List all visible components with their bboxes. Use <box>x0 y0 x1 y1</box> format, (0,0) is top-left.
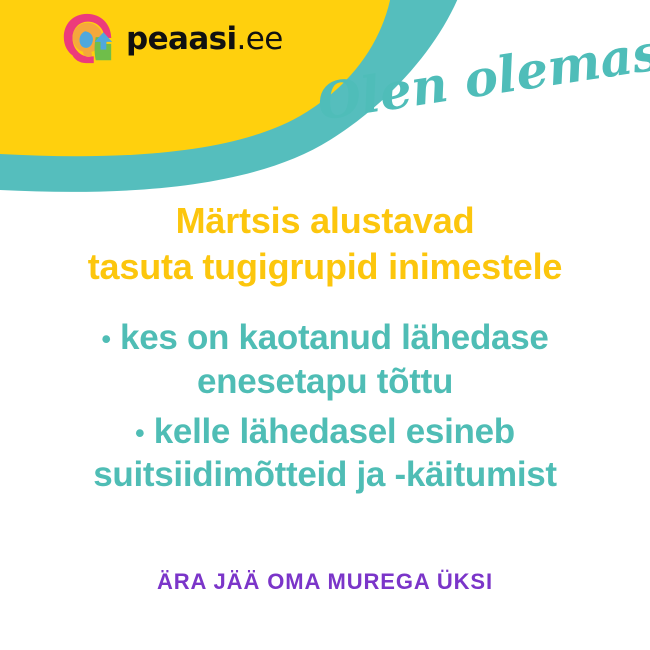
logo-brand-text: peaasi <box>126 21 237 57</box>
call-to-action-text: ÄRA JÄÄ OMA MUREGA ÜKSI <box>0 569 650 595</box>
list-item-label: kes on kaotanud lähedase enesetapu tõttu <box>120 318 549 401</box>
bullet-marker-icon: • <box>135 418 144 448</box>
main-content: Märtsis alustavad tasuta tugigrupid inim… <box>0 198 650 503</box>
list-item: • kes on kaotanud lähedase enesetapu tõt… <box>13 316 637 404</box>
bullet-marker-icon: • <box>101 324 110 354</box>
headline-line-2: tasuta tugigrupid inimestele <box>25 244 625 290</box>
list-item-label: kelle lähedasel esineb suitsiidimõtteid … <box>93 412 557 495</box>
peaasi-head-logo-icon <box>58 10 116 68</box>
logo-tld-text: .ee <box>237 21 283 57</box>
headline-line-1: Märtsis alustavad <box>25 198 625 244</box>
script-tagline: Olen olemas! <box>314 24 650 128</box>
poster-canvas: peaasi.ee Olen olemas! Märtsis alustavad… <box>0 0 650 650</box>
logo-wordmark: peaasi.ee <box>126 24 283 55</box>
target-group-list: • kes on kaotanud lähedase enesetapu tõt… <box>13 316 637 497</box>
headline: Märtsis alustavad tasuta tugigrupid inim… <box>25 198 625 290</box>
list-item: • kelle lähedasel esineb suitsiidimõttei… <box>13 410 637 498</box>
site-logo[interactable]: peaasi.ee <box>58 10 283 68</box>
